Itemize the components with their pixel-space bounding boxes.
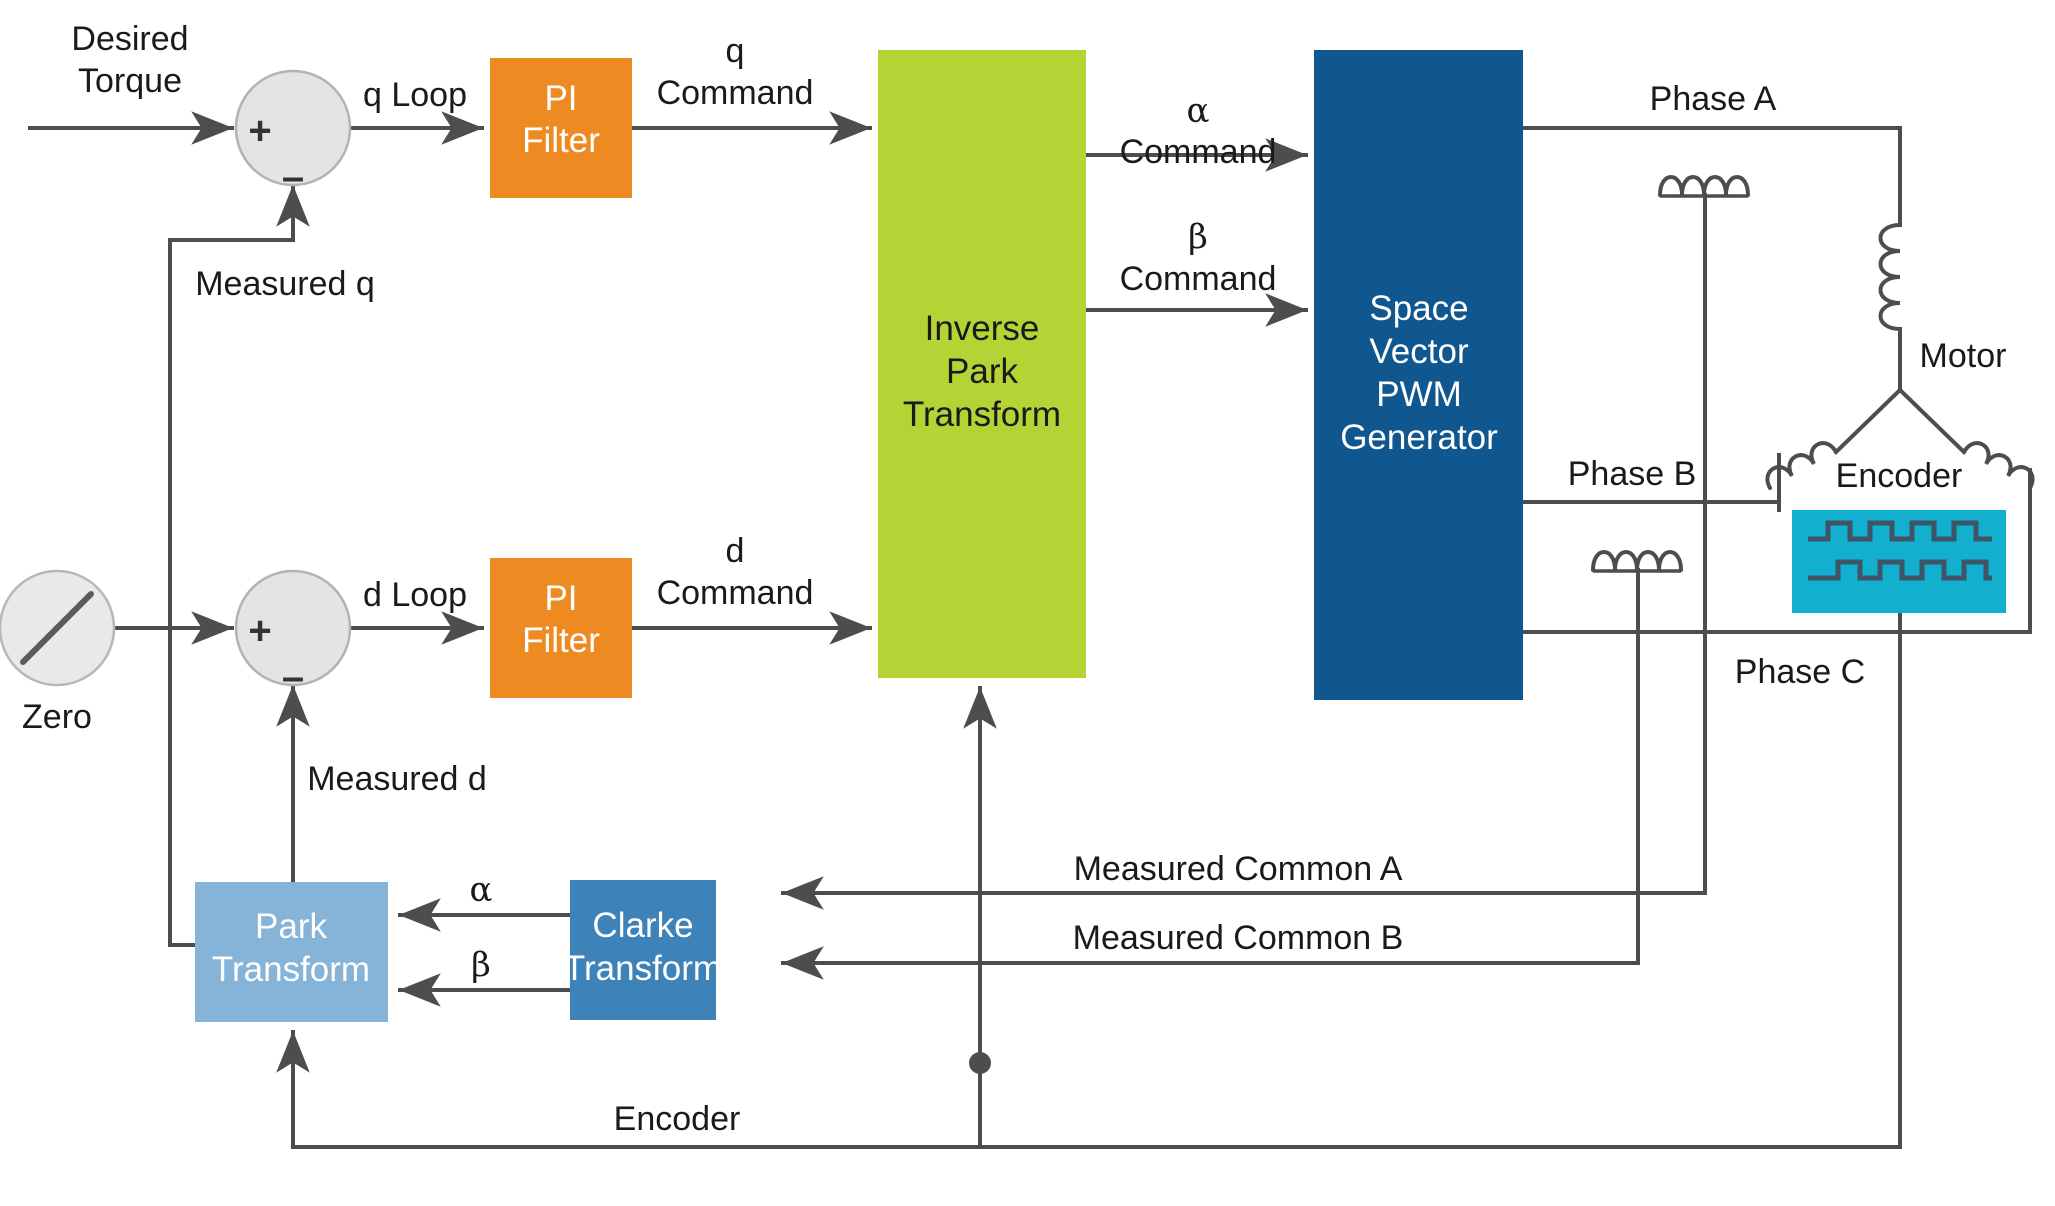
summing-node-d-plus: +	[248, 609, 271, 653]
label-measured-common-b: Measured Common B	[1073, 919, 1404, 957]
label-beta-command-line1: β	[1188, 217, 1208, 257]
junction-dot-encoder	[969, 1052, 991, 1074]
label-q-command-line2: Command	[657, 74, 814, 112]
label-d-command-line2: Command	[657, 574, 814, 612]
block-label-svpwm-line3: PWM	[1376, 375, 1462, 414]
block-label-pi-filter-q-line2: Filter	[522, 121, 600, 160]
motor-winding-a	[1881, 225, 1901, 329]
block-label-inverse-park-line3: Transform	[903, 395, 1061, 434]
label-d-loop: d Loop	[363, 576, 467, 614]
current-sensor-coil-a	[1660, 177, 1748, 195]
block-label-pi-filter-d-line1: PI	[544, 579, 577, 618]
summing-node-d-minus: –	[282, 655, 304, 699]
block-label-inverse-park-line1: Inverse	[925, 309, 1040, 348]
label-zero: Zero	[22, 698, 92, 736]
summing-node-q-minus: –	[282, 155, 304, 199]
label-measured-common-a: Measured Common A	[1074, 850, 1403, 888]
label-beta-command-line2: Command	[1120, 260, 1277, 298]
label-q-loop: q Loop	[363, 76, 467, 114]
block-label-inverse-park-line2: Park	[946, 352, 1018, 391]
label-alpha-clarke-to-park: α	[470, 870, 493, 910]
label-beta-clarke-to-park: β	[471, 945, 491, 985]
encoder-waveform-channel-b	[1808, 562, 1992, 578]
label-desired-torque-line2: Torque	[78, 62, 182, 100]
label-q-command-line1: q	[726, 32, 745, 70]
label-alpha-command-line2: Command	[1120, 133, 1277, 171]
label-alpha-command-line1: α	[1187, 91, 1210, 131]
label-encoder-feedback: Encoder	[614, 1100, 741, 1138]
motor-winding-c	[1964, 443, 2033, 488]
label-phase-b: Phase B	[1568, 455, 1697, 493]
label-motor: Motor	[1920, 337, 2007, 375]
label-phase-c: Phase C	[1735, 653, 1865, 691]
block-label-park-line2: Transform	[212, 950, 370, 989]
block-label-pi-filter-d-line2: Filter	[522, 621, 600, 660]
diagram-canvas: Desired Torque + – q Loop PI Filter q Co…	[0, 0, 2055, 1206]
label-measured-d: Measured d	[307, 760, 487, 798]
label-desired-torque-line1: Desired	[71, 20, 188, 58]
current-sensor-coil-b	[1593, 552, 1681, 570]
block-label-svpwm-line2: Vector	[1369, 332, 1469, 371]
wire-wye-to-c	[1900, 390, 1964, 452]
block-label-clarke-line1: Clarke	[592, 906, 693, 945]
label-measured-q: Measured q	[195, 265, 375, 303]
wire-wye-to-b	[1836, 390, 1900, 452]
block-label-pi-filter-q-line1: PI	[544, 79, 577, 118]
block-label-clarke-line2: Transform	[564, 949, 722, 988]
foc-block-diagram: Desired Torque + – q Loop PI Filter q Co…	[0, 0, 2055, 1206]
label-encoder: Encoder	[1836, 457, 1963, 495]
block-label-svpwm-line4: Generator	[1340, 418, 1498, 457]
block-label-svpwm-line1: Space	[1369, 289, 1468, 328]
summing-node-q-plus: +	[248, 109, 271, 153]
block-label-park-line1: Park	[255, 907, 327, 946]
label-d-command-line1: d	[726, 532, 745, 570]
label-phase-a: Phase A	[1650, 80, 1777, 118]
